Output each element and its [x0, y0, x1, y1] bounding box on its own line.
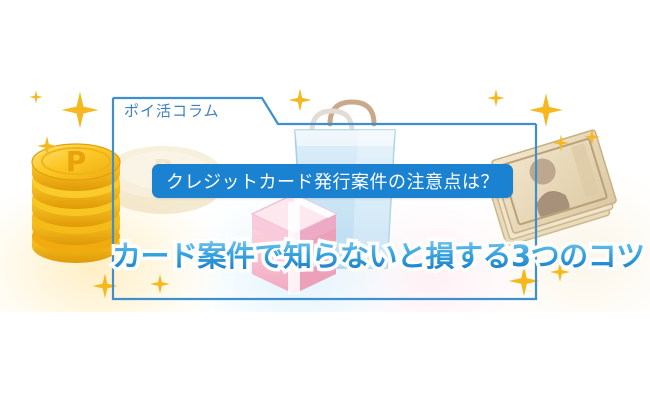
headline-text-wrap: カード案件で知らないと損する3つのコツ カード案件で知らないと損する3つのコツ — [112, 242, 645, 271]
sparkle-icon — [553, 135, 570, 152]
headline: カード案件で知らないと損する3つのコツ カード案件で知らないと損する3つのコツ — [112, 232, 532, 280]
sparkle-icon — [62, 92, 99, 129]
tab-label: ポイ活コラム — [124, 100, 220, 121]
pill-title-banner: クレジットカード発行案件の注意点は？ — [152, 164, 513, 198]
headline-fill: カード案件で知らないと損する3つのコツ — [112, 239, 645, 273]
sparkle-icon — [584, 129, 600, 145]
sparkle-icon — [288, 88, 311, 111]
sparkle-icon — [29, 90, 42, 103]
sparkle-icon — [529, 93, 563, 127]
banner-canvas: P — [0, 0, 650, 400]
sparkle-layer — [0, 0, 650, 400]
pill-title-text: クレジットカード発行案件の注意点は？ — [166, 168, 499, 194]
sparkle-icon — [487, 89, 505, 107]
sparkle-icon — [37, 136, 57, 156]
